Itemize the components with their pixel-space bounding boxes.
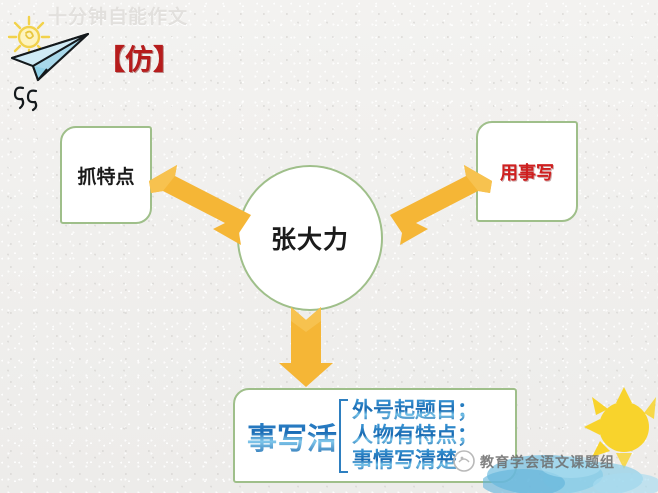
node-label-right: 用事写	[500, 159, 554, 185]
paper-plane-icon	[8, 28, 96, 90]
node-label-center: 张大力	[271, 220, 349, 256]
node-circle-center[interactable]: 张大力	[237, 165, 383, 311]
watermark-label: 教育学会语文课题组	[480, 452, 615, 472]
slide-canvas: 十分钟自能作文 【仿】 抓特点 用事写 张大力 事写活 外号起题目； 人物有特点…	[0, 0, 658, 493]
arrow-up-right-icon	[388, 163, 494, 247]
section-tag: 【仿】	[97, 38, 181, 78]
arrow-up-left-icon	[147, 163, 253, 247]
swoosh-icon	[10, 82, 44, 112]
detail-line: 人物有特点；	[352, 423, 478, 448]
circle-logo-icon	[452, 449, 476, 473]
arrow-down-icon	[276, 305, 336, 389]
page-title: 十分钟自能作文	[48, 2, 188, 29]
node-label-bottom: 事写活	[247, 414, 337, 458]
node-box-left[interactable]: 抓特点	[60, 126, 152, 224]
node-label-left: 抓特点	[77, 162, 134, 189]
detail-line: 外号起题目；	[352, 398, 478, 423]
bracket-icon	[339, 399, 348, 473]
